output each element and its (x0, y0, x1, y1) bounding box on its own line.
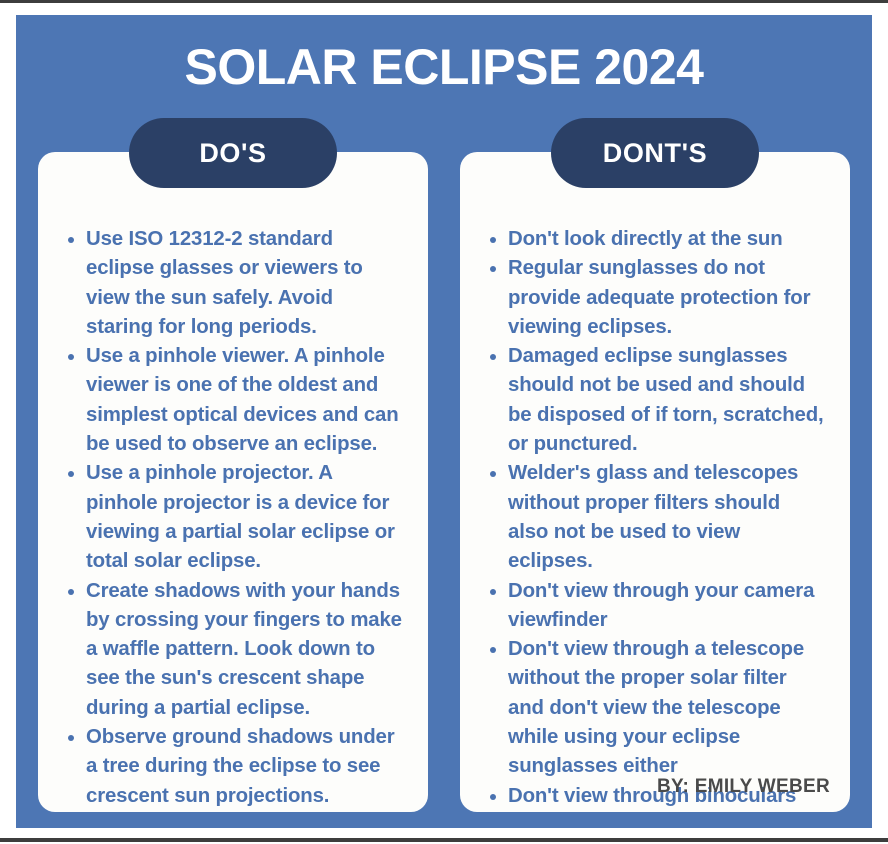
list-item: Use a pinhole viewer. A pinhole viewer i… (65, 342, 403, 459)
dos-heading-badge: DO'S (129, 118, 337, 188)
columns-container: Use ISO 12312-2 standard eclipse glasses… (38, 152, 850, 812)
donts-bullet-list: Don't look directly at the sun Regular s… (487, 225, 825, 811)
page-frame: SOLAR ECLIPSE 2024 Use ISO 12312-2 stand… (0, 0, 888, 844)
list-item: Damaged eclipse sunglasses should not be… (487, 342, 825, 459)
column-dos: Use ISO 12312-2 standard eclipse glasses… (38, 152, 428, 812)
top-frame-rule (0, 0, 888, 3)
donts-card: Don't look directly at the sun Regular s… (460, 152, 850, 812)
poster-panel: SOLAR ECLIPSE 2024 Use ISO 12312-2 stand… (16, 15, 872, 828)
donts-heading-badge: DONT'S (551, 118, 759, 188)
list-item: Don't view through a telescope without t… (487, 635, 825, 781)
list-item: Don't view through your camera viewfinde… (487, 577, 825, 636)
list-item: Use a pinhole projector. A pinhole proje… (65, 459, 403, 576)
list-item: Create shadows with your hands by crossi… (65, 577, 403, 723)
list-item: Observe ground shadows under a tree duri… (65, 723, 403, 811)
list-item: Regular sunglasses do not provide adequa… (487, 254, 825, 342)
author-byline: BY: EMILY WEBER (657, 776, 830, 798)
dos-card: Use ISO 12312-2 standard eclipse glasses… (38, 152, 428, 812)
dos-bullet-list: Use ISO 12312-2 standard eclipse glasses… (65, 225, 403, 811)
column-donts: Don't look directly at the sun Regular s… (460, 152, 850, 812)
list-item: Welder's glass and telescopes without pr… (487, 459, 825, 576)
list-item: Use ISO 12312-2 standard eclipse glasses… (65, 225, 403, 342)
bottom-frame-rule (0, 838, 888, 842)
page-title: SOLAR ECLIPSE 2024 (16, 42, 872, 92)
list-item: Don't look directly at the sun (487, 225, 825, 254)
